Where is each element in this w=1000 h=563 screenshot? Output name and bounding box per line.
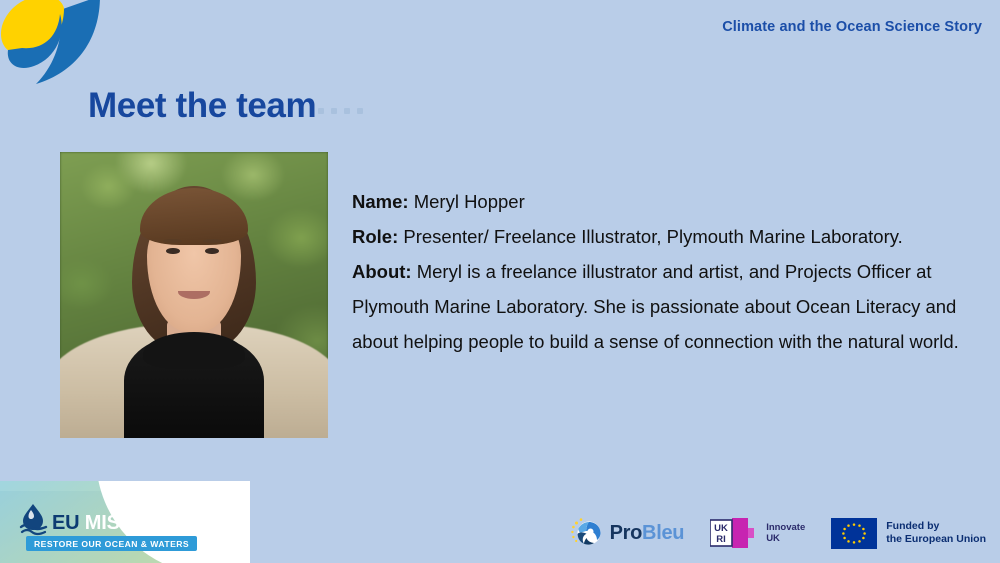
eu-funding-logo: Funded by the European Union: [831, 518, 986, 549]
footer-logo-row: ProBleu UK RI Innovate UK: [571, 517, 986, 549]
dot-4: [357, 108, 363, 114]
title-decorative-dots: [318, 108, 363, 114]
name-value: Meryl Hopper: [414, 191, 525, 212]
svg-text:RI: RI: [716, 534, 726, 545]
page-title: Meet the team: [88, 86, 316, 126]
bio-line-name: Name: Meryl Hopper: [352, 184, 962, 219]
bio-text-block: Name: Meryl Hopper Role: Presenter/ Free…: [352, 184, 962, 359]
bio-line-about: About: Meryl is a freelance illustrator …: [352, 254, 962, 359]
dot-2: [331, 108, 337, 114]
about-label: About:: [352, 261, 412, 282]
ukri-emblem-icon: UK RI: [710, 518, 758, 548]
innovate-uk-line2: UK: [766, 533, 805, 545]
photo-brow-right: [203, 239, 222, 243]
ocean-moon-swoosh-logo: [0, 0, 120, 97]
innovate-uk-wordmark: Innovate UK: [766, 522, 805, 545]
eu-funding-line1: Funded by: [886, 520, 986, 533]
bio-line-role: Role: Presenter/ Freelance Illustrator, …: [352, 219, 962, 254]
dot-3: [344, 108, 350, 114]
about-value: Meryl is a freelance illustrator and art…: [352, 261, 959, 352]
slide-canvas: Climate and the Ocean Science Story Meet…: [0, 0, 1000, 563]
probleu-logo: ProBleu: [571, 517, 685, 549]
eu-missions-wordmark: EU MISSIONS: [52, 512, 181, 535]
eu-missions-logo: EU MISSIONS RESTORE OUR OCEAN & WATERS: [0, 481, 250, 563]
ukri-innovate-uk-logo: UK RI Innovate UK: [710, 518, 805, 548]
probleu-emblem-icon: [571, 517, 603, 549]
water-droplet-icon: [18, 503, 48, 537]
dot-1: [318, 108, 324, 114]
eu-funding-line2: the European Union: [886, 533, 986, 546]
european-union-flag-icon: [831, 518, 877, 549]
probleu-pro: Pro: [610, 522, 642, 544]
innovate-uk-line1: Innovate: [766, 522, 805, 534]
name-label: Name:: [352, 191, 409, 212]
probleu-wordmark: ProBleu: [610, 522, 685, 545]
role-value: Presenter/ Freelance Illustrator, Plymou…: [403, 226, 902, 247]
role-label: Role:: [352, 226, 398, 247]
probleu-bleu: Bleu: [642, 522, 684, 544]
photo-brow-left: [163, 239, 182, 243]
svg-text:UK: UK: [714, 523, 728, 534]
header-title: Climate and the Ocean Science Story: [722, 19, 982, 35]
eu-missions-eu: EU: [52, 512, 85, 534]
eu-missions-missions: MISSIONS: [85, 512, 181, 534]
eu-missions-tagline: RESTORE OUR OCEAN & WATERS: [26, 536, 197, 551]
photo-collar: [143, 332, 245, 369]
eu-funding-wordmark: Funded by the European Union: [886, 520, 986, 546]
team-member-photo: [60, 152, 328, 438]
